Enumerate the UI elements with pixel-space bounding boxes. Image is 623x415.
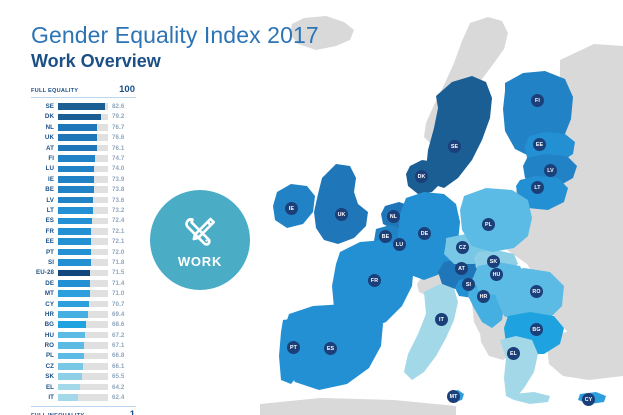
bar-fill-SI — [58, 259, 91, 266]
map-pill-UK[interactable]: UK — [335, 208, 348, 221]
bar-track-DK — [58, 114, 108, 121]
bar-value-AT: 76.1 — [108, 145, 136, 152]
bar-value-EU-28: 71.5 — [108, 269, 136, 276]
bar-row-FR: FR72.1 — [31, 226, 136, 236]
bar-code-IE: IE — [31, 176, 58, 183]
map-pill-DK[interactable]: DK — [415, 170, 428, 183]
bar-row-IE: IE73.9 — [31, 174, 136, 184]
bar-row-UK: UK76.6 — [31, 133, 136, 143]
scale-bottom: FULL INEQUALITY 1 — [31, 409, 136, 415]
map-pill-AT[interactable]: AT — [455, 262, 468, 275]
bar-row-HU: HU67.2 — [31, 330, 136, 340]
bar-fill-CZ — [58, 363, 83, 370]
bar-code-BE: BE — [31, 186, 58, 193]
full-equality-value: 100 — [119, 84, 136, 95]
bar-code-MT: MT — [31, 290, 58, 297]
map-pill-SE[interactable]: SE — [448, 140, 461, 153]
map-pill-DE[interactable]: DE — [418, 227, 431, 240]
bar-row-DK: DK79.2 — [31, 112, 136, 122]
bar-fill-EU-28 — [58, 270, 90, 277]
bar-value-PT: 72.0 — [108, 249, 136, 256]
bar-row-BE: BE73.8 — [31, 185, 136, 195]
bar-code-BG: BG — [31, 321, 58, 328]
bar-row-ES: ES72.4 — [31, 216, 136, 226]
bar-fill-RO — [58, 342, 84, 349]
bar-row-EU-28: EU-2871.5 — [31, 268, 136, 278]
bar-row-EE: EE72.1 — [31, 236, 136, 246]
bar-row-PL: PL66.8 — [31, 351, 136, 361]
bar-track-BG — [58, 321, 108, 328]
bar-track-PT — [58, 249, 108, 256]
bar-row-EL: EL64.2 — [31, 382, 136, 392]
bar-fill-EL — [58, 384, 80, 391]
bar-value-FI: 74.7 — [108, 155, 136, 162]
bar-code-SK: SK — [31, 373, 58, 380]
bar-fill-IT — [58, 394, 78, 401]
bar-code-SI: SI — [31, 259, 58, 266]
wrench-pencil-icon — [180, 212, 220, 252]
bar-value-RO: 67.1 — [108, 342, 136, 349]
bar-code-UK: UK — [31, 134, 58, 141]
bar-fill-LT — [58, 207, 93, 214]
bar-track-AT — [58, 145, 108, 152]
full-inequality-value: 1 — [130, 409, 136, 415]
bar-value-DE: 71.4 — [108, 280, 136, 287]
infographic-canvas: SE DK NL UK AT FI LU IE BE LV LT ES FR E… — [0, 0, 623, 415]
bar-track-LU — [58, 166, 108, 173]
bar-fill-AT — [58, 145, 97, 152]
map-pill-BG[interactable]: BG — [530, 323, 543, 336]
work-badge-label: WORK — [178, 254, 222, 269]
bar-fill-HR — [58, 311, 87, 318]
bar-code-LU: LU — [31, 165, 58, 172]
map-pill-SK[interactable]: SK — [487, 255, 500, 268]
bar-track-DE — [58, 280, 108, 287]
bar-value-DK: 79.2 — [108, 113, 136, 120]
bar-value-FR: 72.1 — [108, 228, 136, 235]
bar-row-BG: BG68.6 — [31, 320, 136, 330]
bar-code-NL: NL — [31, 124, 58, 131]
bar-track-PL — [58, 353, 108, 360]
bar-value-LU: 74.0 — [108, 165, 136, 172]
map-pill-FR[interactable]: FR — [368, 274, 381, 287]
bar-code-EU-28: EU-28 — [31, 269, 58, 276]
map-pill-PT[interactable]: PT — [287, 341, 300, 354]
bar-fill-LV — [58, 197, 93, 204]
bar-row-LU: LU74.0 — [31, 164, 136, 174]
bar-code-FI: FI — [31, 155, 58, 162]
bar-code-HU: HU — [31, 332, 58, 339]
map-pill-PL[interactable]: PL — [482, 218, 495, 231]
bar-fill-DK — [58, 114, 101, 121]
bar-fill-EE — [58, 238, 91, 245]
bar-fill-LU — [58, 166, 94, 173]
bar-track-CY — [58, 301, 108, 308]
bar-track-SI — [58, 259, 108, 266]
bar-code-SE: SE — [31, 103, 58, 110]
ranking-bar-chart: FULL EQUALITY 100 SE82.6DK79.2NL76.7UK76… — [31, 84, 136, 415]
bar-value-ES: 72.4 — [108, 217, 136, 224]
map-pill-HU[interactable]: HU — [490, 268, 503, 281]
bar-code-HR: HR — [31, 311, 58, 318]
bar-value-LV: 73.6 — [108, 197, 136, 204]
bar-code-PT: PT — [31, 249, 58, 256]
bar-value-NL: 76.7 — [108, 124, 136, 131]
bar-value-MT: 71.0 — [108, 290, 136, 297]
bar-track-FR — [58, 228, 108, 235]
map-pill-EE[interactable]: EE — [533, 138, 546, 151]
bar-value-SE: 82.6 — [108, 103, 136, 110]
bar-code-RO: RO — [31, 342, 58, 349]
bar-row-AT: AT76.1 — [31, 143, 136, 153]
bar-value-HU: 67.2 — [108, 332, 136, 339]
bar-row-HR: HR69.4 — [31, 309, 136, 319]
bar-row-RO: RO67.1 — [31, 340, 136, 350]
bar-code-CZ: CZ — [31, 363, 58, 370]
bar-code-LV: LV — [31, 197, 58, 204]
bar-row-NL: NL76.7 — [31, 122, 136, 132]
bar-value-BE: 73.8 — [108, 186, 136, 193]
bar-row-SI: SI71.8 — [31, 257, 136, 267]
bar-row-PT: PT72.0 — [31, 247, 136, 257]
map-pill-HR[interactable]: HR — [477, 290, 490, 303]
bar-fill-FI — [58, 155, 95, 162]
bar-code-CY: CY — [31, 301, 58, 308]
bar-track-BE — [58, 186, 108, 193]
bar-row-MT: MT71.0 — [31, 288, 136, 298]
wrench-pivot-dot — [206, 239, 208, 241]
bar-track-RO — [58, 342, 108, 349]
map-pill-CZ[interactable]: CZ — [456, 241, 469, 254]
bar-code-DE: DE — [31, 280, 58, 287]
bar-track-HR — [58, 311, 108, 318]
page-title: Gender Equality Index 2017 — [31, 22, 319, 49]
map-pill-MT[interactable]: MT — [447, 390, 460, 403]
bar-row-SE: SE82.6 — [31, 101, 136, 111]
bar-value-SI: 71.8 — [108, 259, 136, 266]
bar-value-LT: 73.2 — [108, 207, 136, 214]
scale-bottom-divider — [31, 406, 136, 407]
bar-code-EE: EE — [31, 238, 58, 245]
page-subtitle: Work Overview — [31, 50, 319, 72]
bar-fill-BG — [58, 321, 86, 328]
bar-fill-PT — [58, 249, 91, 256]
bar-code-FR: FR — [31, 228, 58, 235]
bar-fill-FR — [58, 228, 91, 235]
bar-track-CZ — [58, 363, 108, 370]
bar-row-CY: CY70.7 — [31, 299, 136, 309]
title-block: Gender Equality Index 2017 Work Overview — [31, 22, 319, 72]
bar-value-CY: 70.7 — [108, 301, 136, 308]
bar-track-NL — [58, 124, 108, 131]
bar-track-FI — [58, 155, 108, 162]
bar-fill-CY — [58, 301, 89, 308]
bar-track-LT — [58, 207, 108, 214]
bar-fill-DE — [58, 280, 90, 287]
bar-row-SK: SK65.5 — [31, 372, 136, 382]
bar-value-PL: 66.8 — [108, 352, 136, 359]
bar-value-BG: 68.6 — [108, 321, 136, 328]
bar-fill-BE — [58, 186, 93, 193]
bar-track-SE — [58, 103, 108, 110]
bar-fill-HU — [58, 332, 85, 339]
bar-track-EE — [58, 238, 108, 245]
bar-track-LV — [58, 197, 108, 204]
bar-track-SK — [58, 373, 108, 380]
bar-row-DE: DE71.4 — [31, 278, 136, 288]
bar-track-EL — [58, 384, 108, 391]
bar-track-HU — [58, 332, 108, 339]
bar-row-LT: LT73.2 — [31, 205, 136, 215]
bar-fill-SK — [58, 373, 82, 380]
scale-top-divider — [31, 97, 136, 98]
map-pill-NL[interactable]: NL — [387, 210, 400, 223]
map-pill-EL[interactable]: EL — [507, 347, 520, 360]
bar-row-IT: IT62.4 — [31, 392, 136, 402]
bar-track-MT — [58, 290, 108, 297]
scale-top: FULL EQUALITY 100 — [31, 84, 136, 95]
bar-track-ES — [58, 218, 108, 225]
map-pill-LT[interactable]: LT — [531, 181, 544, 194]
bar-row-LV: LV73.6 — [31, 195, 136, 205]
work-badge[interactable]: WORK — [150, 190, 250, 290]
bar-value-IT: 62.4 — [108, 394, 136, 401]
bar-value-CZ: 66.1 — [108, 363, 136, 370]
bar-fill-SE — [58, 103, 105, 110]
bar-fill-PL — [58, 353, 84, 360]
bar-track-EU-28 — [58, 270, 108, 277]
bar-code-IT: IT — [31, 394, 58, 401]
bar-value-EL: 64.2 — [108, 384, 136, 391]
map-pill-BE[interactable]: BE — [379, 230, 392, 243]
bar-value-EE: 72.1 — [108, 238, 136, 245]
bar-value-HR: 69.4 — [108, 311, 136, 318]
bar-code-LT: LT — [31, 207, 58, 214]
bar-value-UK: 76.6 — [108, 134, 136, 141]
bar-code-DK: DK — [31, 113, 58, 120]
bar-fill-NL — [58, 124, 97, 131]
bar-row-CZ: CZ66.1 — [31, 361, 136, 371]
bar-row-FI: FI74.7 — [31, 153, 136, 163]
full-equality-label: FULL EQUALITY — [31, 88, 78, 94]
map-pill-ES[interactable]: ES — [324, 342, 337, 355]
map-pill-LV[interactable]: LV — [544, 164, 557, 177]
bar-code-PL: PL — [31, 352, 58, 359]
map-pill-IT[interactable]: IT — [435, 313, 448, 326]
bar-code-EL: EL — [31, 384, 58, 391]
map-pill-RO[interactable]: RO — [530, 285, 543, 298]
bar-track-IE — [58, 176, 108, 183]
bar-track-IT — [58, 394, 108, 401]
map-pill-CY[interactable]: CY — [582, 393, 595, 406]
bar-list: SE82.6DK79.2NL76.7UK76.6AT76.1FI74.7LU74… — [31, 101, 136, 402]
bar-fill-ES — [58, 218, 92, 225]
map-pill-IE[interactable]: IE — [285, 202, 298, 215]
bar-code-ES: ES — [31, 217, 58, 224]
bar-code-AT: AT — [31, 145, 58, 152]
bar-value-SK: 65.5 — [108, 373, 136, 380]
bar-fill-IE — [58, 176, 94, 183]
map-pill-FI[interactable]: FI — [531, 94, 544, 107]
bar-fill-UK — [58, 134, 97, 141]
bar-value-IE: 73.9 — [108, 176, 136, 183]
map-pill-SI[interactable]: SI — [462, 278, 475, 291]
bar-fill-MT — [58, 290, 90, 297]
map-pill-LU[interactable]: LU — [393, 238, 406, 251]
bar-track-UK — [58, 134, 108, 141]
